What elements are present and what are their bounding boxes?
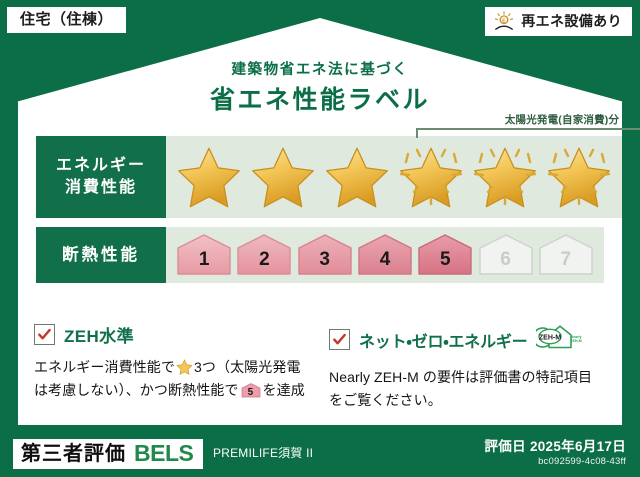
evaluation-date: 評価日 2025年6月17日	[484, 438, 626, 456]
insulation-grade-house: 6	[477, 233, 535, 277]
zeh-sections: ZEH水準 エネルギー消費性能で3つ（太陽光発電は考慮しない）、かつ断熱性能で5…	[34, 322, 606, 411]
insulation-grade-track: 1 2 3	[166, 227, 604, 283]
bels-certification-bar: 第三者評価 BELS	[13, 439, 203, 469]
zeh-standard-block: ZEH水準 エネルギー消費性能で3つ（太陽光発電は考慮しない）、かつ断熱性能で5…	[34, 322, 311, 411]
energy-star	[320, 142, 394, 212]
energy-label-line2: 消費性能	[65, 177, 137, 199]
insulation-grade-house: 3	[296, 233, 354, 277]
evaluation-id: bc092599-4c08-43ff	[484, 456, 626, 467]
third-party-eval-label: 第三者評価	[21, 444, 126, 464]
insulation-grade-number: 6	[500, 250, 511, 277]
evaluation-date-value: 2025年6月17日	[530, 439, 626, 454]
insulation-row: 断熱性能 1 2	[36, 227, 604, 283]
property-name: PREMILIFE須賀 II	[213, 444, 313, 461]
insulation-grade-house: 1	[175, 233, 233, 277]
check-icon	[329, 329, 350, 350]
energy-performance-label: 住宅（住棟） E 再エネ設備あり 建築物省エネ法に基づく 省エネ性能ラベル いい…	[0, 0, 640, 477]
insulation-grade-house: 5	[416, 233, 474, 277]
energy-star-solar	[542, 142, 616, 212]
net-zero-energy-header: ネット・ゼロ・エネルギー ZEH-M Nearly ZEH-M	[329, 322, 606, 357]
check-icon	[34, 324, 55, 345]
insulation-grade-number: 4	[380, 250, 391, 277]
zeh-standard-text: エネルギー消費性能で3つ（太陽光発電は考慮しない）、かつ断熱性能で5を達成	[34, 356, 311, 401]
zeh-text-star-count: 3つ（太陽光発電	[194, 359, 301, 375]
renewable-badge-label: 再エネ設備あり	[521, 14, 622, 28]
net-zero-energy-title: ネット・ゼロ・エネルギー	[359, 328, 527, 352]
energy-consumption-label: エネルギー 消費性能	[36, 136, 166, 218]
house-grade-icon: 5	[241, 382, 261, 399]
net-zero-energy-block: ネット・ゼロ・エネルギー ZEH-M Nearly ZEH-M Nearly Z…	[329, 322, 606, 411]
insulation-grade-house: 7	[537, 233, 595, 277]
svg-text:ZEH-M: ZEH-M	[571, 339, 582, 343]
insulation-grade-house: 2	[235, 233, 293, 277]
net-zero-energy-text: Nearly ZEH-M の要件は評価書の特記項目をご覧ください。	[329, 366, 606, 411]
svg-text:ZEH-M: ZEH-M	[539, 334, 561, 341]
category-tag: 住宅（住棟）	[7, 7, 126, 33]
star-icon	[176, 359, 193, 375]
bels-logo-text: BELS	[134, 442, 193, 465]
evaluation-date-label: 評価日	[484, 439, 525, 454]
svg-text:E: E	[502, 18, 506, 24]
energy-star-solar	[468, 142, 542, 212]
energy-star	[246, 142, 320, 212]
insulation-grade-house: 4	[356, 233, 414, 277]
label-title: 省エネ性能ラベル	[0, 80, 640, 116]
energy-star-solar	[394, 142, 468, 212]
performance-rows: エネルギー 消費性能 太陽光発電(自家消費)分	[36, 136, 604, 292]
zeh-text-part-b: は考慮しない）、かつ断熱性能で	[34, 382, 239, 398]
solar-annotation-label: 太陽光発電(自家消費)分	[412, 112, 640, 127]
insulation-grade-number: 3	[319, 250, 330, 277]
insulation-grade-number: 1	[199, 250, 210, 277]
insulation-grade-number: 7	[561, 250, 572, 277]
zeh-text-part-a: エネルギー消費性能で	[34, 359, 175, 375]
insulation-grade-number: 5	[440, 250, 451, 277]
zeh-standard-title: ZEH水準	[64, 322, 134, 347]
energy-consumption-row: エネルギー 消費性能 太陽光発電(自家消費)分	[36, 136, 604, 218]
zeh-standard-header: ZEH水準	[34, 322, 311, 347]
renewable-energy-badge: E 再エネ設備あり	[485, 7, 632, 36]
zeh-m-logo-icon: ZEH-M Nearly ZEH-M	[536, 322, 582, 357]
label-subtitle: 建築物省エネ法に基づく	[0, 58, 640, 79]
energy-star	[172, 142, 246, 212]
insulation-grade-number: 2	[259, 250, 270, 277]
insulation-label: 断熱性能	[36, 227, 166, 283]
energy-label-line1: エネルギー	[56, 155, 146, 177]
solar-annotation-bracket	[416, 128, 640, 138]
house-grade-value: 5	[241, 388, 261, 398]
zeh-text-part-c: を達成	[263, 382, 305, 398]
evaluation-info: 評価日 2025年6月17日 bc092599-4c08-43ff	[484, 438, 626, 467]
sun-icon: E	[493, 11, 515, 31]
energy-star-track: 太陽光発電(自家消費)分	[166, 136, 622, 218]
